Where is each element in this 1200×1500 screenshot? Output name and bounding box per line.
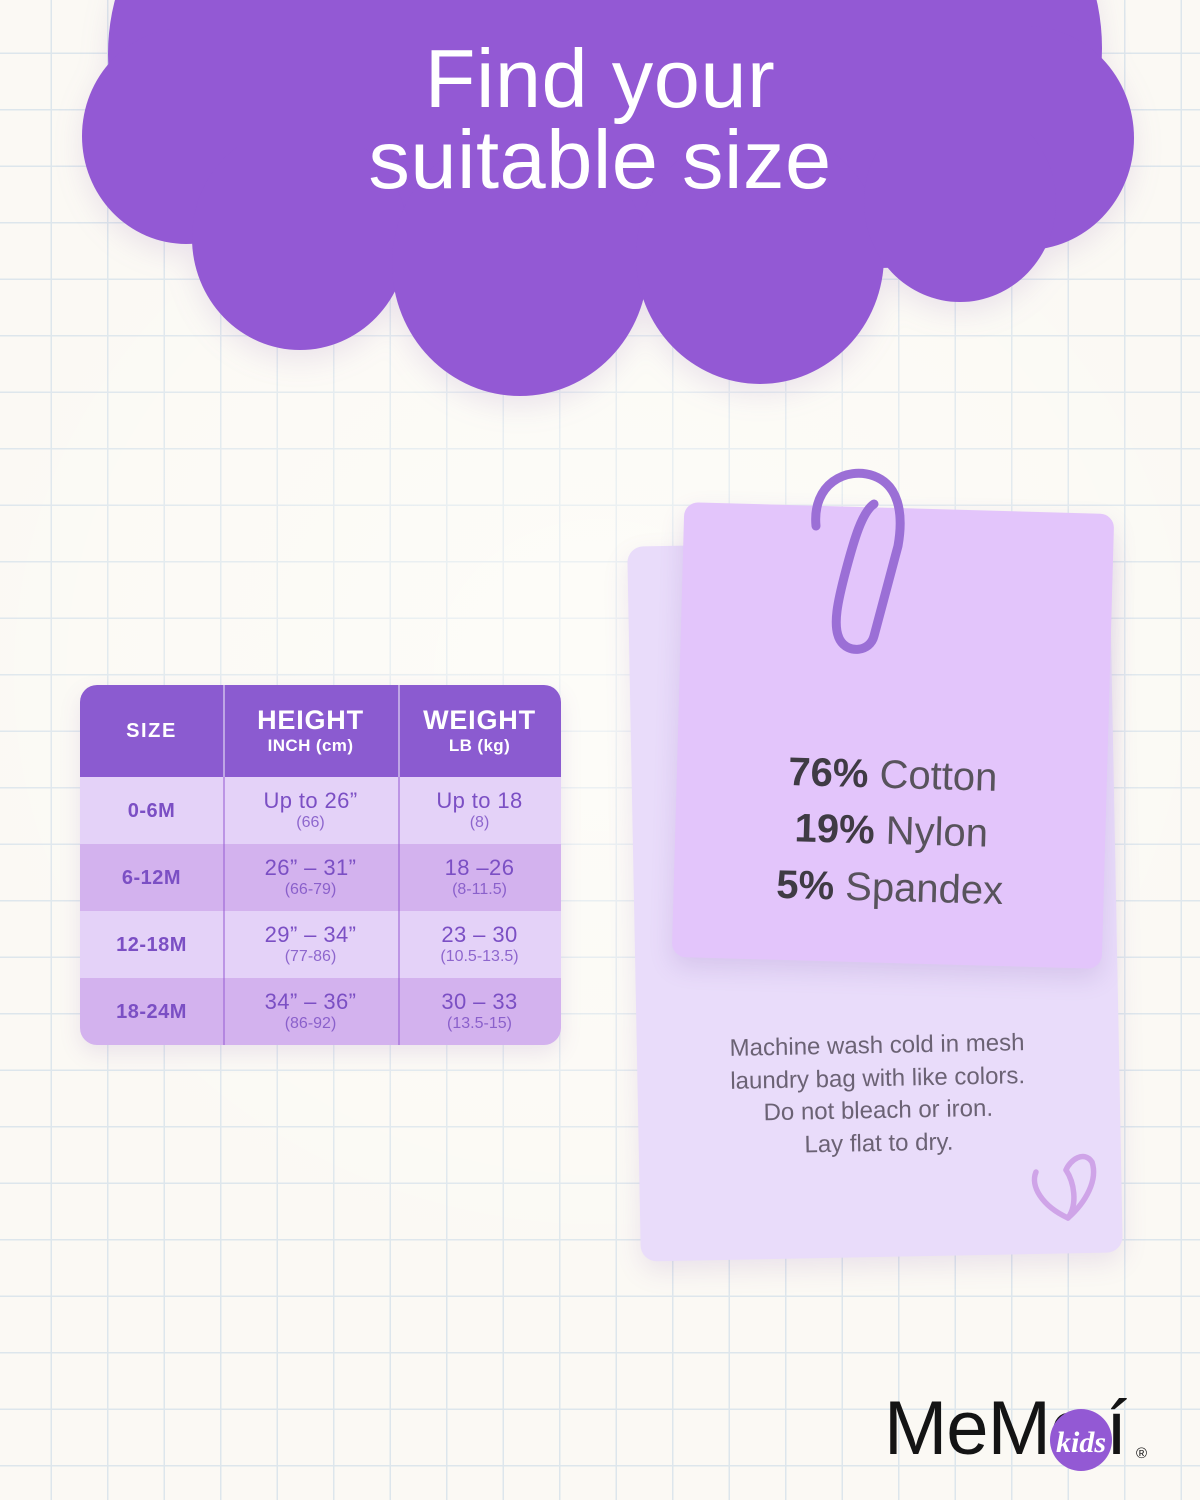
table-row: 6-12M 26” – 31” (66-79) 18 –26 (8-11.5): [80, 844, 561, 911]
fabric-percent: 76%: [788, 750, 869, 796]
page-title: Find your suitable size: [0, 38, 1200, 201]
column-header-size: SIZE: [80, 685, 223, 777]
table-row: 12-18M 29” – 34” (77-86) 23 – 30 (10.5-1…: [80, 911, 561, 978]
title-line-1: Find your: [0, 38, 1200, 119]
cell-size: 6-12M: [80, 844, 223, 911]
cell-weight: 18 –26 (8-11.5): [398, 844, 561, 911]
fabric-line: 19% Nylon: [794, 801, 989, 863]
table-header-row: SIZE HEIGHT INCH (cm) WEIGHT LB (kg): [80, 685, 561, 777]
title-line-2: suitable size: [0, 119, 1200, 200]
fabric-line: 76% Cotton: [788, 744, 999, 807]
cell-weight: Up to 18 (8): [398, 777, 561, 844]
memoi-kids-logo: MeMo kids í ®: [884, 1382, 1152, 1490]
note-card-stack: 76% Cotton 19% Nylon 5% Spandex Machine …: [612, 470, 1152, 1280]
table-row: 18-24M 34” – 36” (86-92) 30 – 33 (13.5-1…: [80, 978, 561, 1045]
fabric-line: 5% Spandex: [776, 857, 1004, 920]
trademark-symbol: ®: [1136, 1445, 1147, 1462]
fabric-material: Nylon: [885, 809, 988, 856]
fabric-material: Cotton: [879, 752, 998, 799]
size-chart-table: SIZE HEIGHT INCH (cm) WEIGHT LB (kg) 0-6…: [80, 685, 561, 1045]
heart-doodle-icon: [1024, 1146, 1114, 1236]
fabric-percent: 5%: [776, 863, 835, 909]
cell-height: 29” – 34” (77-86): [223, 911, 398, 978]
column-header-height: HEIGHT INCH (cm): [223, 685, 398, 777]
column-header-weight: WEIGHT LB (kg): [398, 685, 561, 777]
cell-size: 0-6M: [80, 777, 223, 844]
cell-height: 34” – 36” (86-92): [223, 978, 398, 1045]
cell-height: 26” – 31” (66-79): [223, 844, 398, 911]
care-instructions-text: Machine wash cold in mesh laundry bag wi…: [647, 1026, 1109, 1165]
kids-badge-label: kids: [1056, 1426, 1106, 1459]
cell-height: Up to 26” (66): [223, 777, 398, 844]
fabric-percent: 19%: [794, 807, 875, 853]
paperclip-icon: [800, 460, 920, 660]
cell-weight: 23 – 30 (10.5-13.5): [398, 911, 561, 978]
fabric-material: Spandex: [845, 865, 1004, 913]
logo-accent-letter: í: [1106, 1386, 1127, 1471]
cell-weight: 30 – 33 (13.5-15): [398, 978, 561, 1045]
table-row: 0-6M Up to 26” (66) Up to 18 (8): [80, 777, 561, 844]
cell-size: 12-18M: [80, 911, 223, 978]
cell-size: 18-24M: [80, 978, 223, 1045]
